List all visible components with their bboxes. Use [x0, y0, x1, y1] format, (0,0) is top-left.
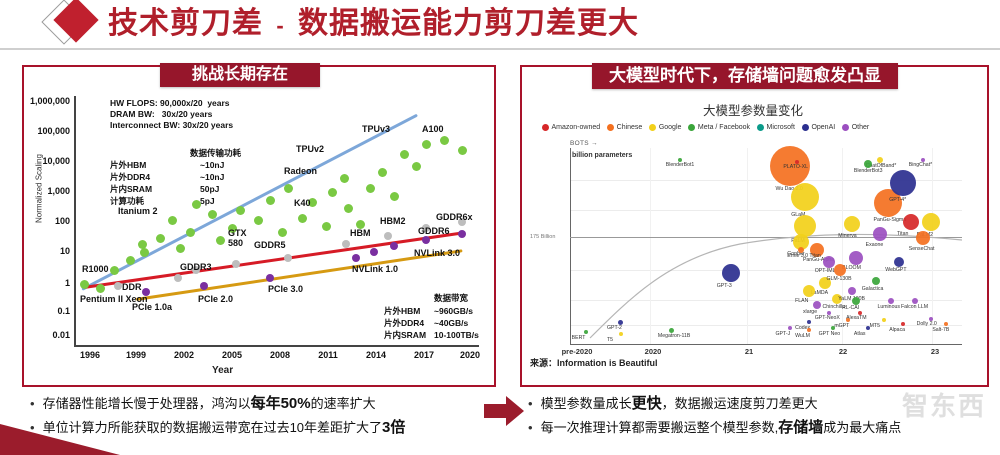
power-row-1-value: ~10nJ: [200, 172, 224, 183]
legend-item-microsoft: Microsoft: [757, 124, 795, 131]
bullet-text-pre: 模型参数量成长: [541, 396, 632, 411]
bullet-item: • 存储器性能增长慢于处理器，鸿沟以每年50%的速率扩大: [22, 392, 492, 416]
x-tick-6: 2014: [356, 350, 396, 360]
page-title-separator: -: [272, 13, 288, 38]
scissors-gap-chart: Normalized Scaling Year 1,000,000 100,00…: [22, 88, 492, 380]
legend-dot-icon: [842, 124, 849, 131]
data-point: [440, 136, 449, 145]
bw-row-0-value: ~960GB/s: [434, 306, 473, 317]
data-point: [422, 236, 430, 244]
page-title: 技术剪刀差 - 数据搬运能力剪刀差更大: [108, 2, 639, 48]
bubble-label: T5: [607, 337, 613, 343]
bubble-blenderbot3: [864, 160, 872, 168]
data-point: [352, 254, 360, 262]
y-tick-0: 1,000,000: [14, 96, 70, 106]
bubble-label: RL-CAI: [842, 305, 859, 311]
bubble-webgpt: [894, 257, 904, 267]
point-label-r1000: R1000: [82, 264, 109, 274]
legend-label: OpenAI: [811, 124, 835, 131]
legend-label: Meta / Facebook: [698, 124, 750, 131]
bubble-label: Ernie 3.0 Titan: [787, 253, 820, 259]
page-title-main: 技术剪刀差: [108, 7, 263, 40]
bullet-text-strong: 每年50%: [251, 395, 311, 412]
data-point: [266, 196, 275, 205]
power-row-2-value: 50pJ: [200, 184, 219, 195]
bullet-text-post: 的速率扩大: [311, 396, 376, 411]
point-label-hbm: HBM: [350, 228, 366, 238]
bullet-text: 每一次推理计算都需要搬运整个模型参数,存储墙成为最大痛点: [541, 416, 902, 440]
data-point: [344, 204, 353, 213]
bubble-bloom: [849, 251, 863, 265]
bubble-opt-iml: [823, 256, 835, 268]
bubble-sensechat: [916, 231, 930, 245]
bubble-dolly-2-0: [929, 317, 933, 321]
y-tick-6: 1: [14, 278, 70, 288]
left-panel-banner: 挑战长期存在: [160, 63, 320, 87]
data-point: [322, 222, 331, 231]
data-point: [266, 274, 274, 282]
bullet-text-strong: 更快: [632, 395, 662, 412]
bubble-label: GLM-130B: [826, 276, 851, 282]
bubble-x-tick-2: 21: [724, 347, 774, 356]
bubble-chart-legend: Amazon-owned Chinese Google Meta / Faceb…: [542, 124, 972, 131]
point-label-a100: A100: [422, 124, 444, 134]
gridline-175-billion-label: 175 Billion: [530, 234, 555, 240]
bubble-label: Exaone: [866, 242, 884, 248]
point-label-hbm2: HBM2: [380, 216, 406, 226]
bubble-label: FLAN: [795, 298, 808, 304]
legend-dot-icon: [542, 124, 549, 131]
page-title-bar: 技术剪刀差 - 数据搬运能力剪刀差更大: [0, 0, 1000, 52]
bubble-label: Alpaca: [889, 327, 905, 333]
y-tick-8: 0.01: [14, 330, 70, 340]
data-point: [232, 260, 240, 268]
legend-item-meta-facebook: Meta / Facebook: [688, 124, 750, 131]
point-label-tpuv3: TPUv3: [362, 124, 390, 134]
bullet-text: 存储器性能增长慢于处理器，鸿沟以每年50%的速率扩大: [43, 392, 376, 416]
point-label-gddr6: GDDR6: [418, 226, 450, 236]
title-divider: [0, 48, 1000, 50]
data-point: [340, 174, 349, 183]
bots-annotation: BOTS →: [570, 140, 598, 147]
y-axis: [74, 96, 76, 346]
bubble-label: Luminous: [877, 304, 900, 310]
data-point: [458, 146, 467, 155]
bubble-chatofband-: [877, 157, 883, 163]
bubble-label: BERT: [572, 335, 586, 341]
data-point: [168, 216, 177, 225]
bubble-alexatm: [858, 311, 862, 315]
bubble-xlarge: [813, 301, 821, 309]
right-arrow-icon: [484, 394, 524, 428]
legend-item-chinese: Chinese: [607, 124, 642, 131]
y-tick-7: 0.1: [14, 306, 70, 316]
bubble-label: GPT-4*: [889, 197, 906, 203]
bubble-label: mGPT: [834, 323, 849, 329]
bullet-text-strong: 存储墙: [778, 419, 823, 436]
data-point: [126, 256, 135, 265]
data-point: [236, 206, 245, 215]
point-label-pcie30: PCIe 3.0: [268, 284, 303, 294]
data-point: [156, 234, 165, 243]
point-label-nvlink30: NVLink 3.0: [414, 248, 460, 258]
point-label-ddr: DDR: [122, 282, 142, 292]
point-label-k40: K40: [294, 198, 311, 208]
scaling-note: HW FLOPS: 90,000x/20 years DRAM BW: 30x/…: [110, 98, 233, 131]
data-point: [174, 274, 182, 282]
data-point: [278, 228, 287, 237]
power-row-2-name: 片内SRAM: [110, 184, 152, 195]
bubble-label: SenseChat: [909, 246, 935, 252]
data-point: [412, 162, 421, 171]
bubble-label: GPT-NeoX: [815, 315, 840, 321]
bubble-rl-cai: [852, 297, 860, 305]
point-label-itanium2: Itanium 2: [118, 206, 158, 216]
legend-label: Microsoft: [767, 124, 795, 131]
point-label-nvlink10: NVLink 1.0: [352, 264, 398, 274]
bubble-gpt-neo: [831, 326, 835, 330]
bubble-bingchat-: [921, 158, 925, 162]
bullet-text-post: ，数据搬运速度剪刀差更大: [662, 396, 818, 411]
point-label-radeon: Radeon: [284, 166, 317, 176]
y-tick-1: 100,000: [14, 126, 70, 136]
data-point: [370, 248, 378, 256]
right-panel-banner: 大模型时代下，存储墙问题愈发凸显: [592, 63, 898, 89]
bw-note-header: 数据带宽: [434, 293, 468, 304]
bubble-label: BingChat*: [909, 162, 932, 168]
data-point: [140, 248, 149, 257]
x-axis-label: Year: [212, 365, 233, 376]
power-row-0-name: 片外HBM: [110, 160, 146, 171]
point-label-gddr3: GDDR3: [180, 262, 212, 272]
watermark: 智东西: [902, 386, 986, 423]
corner-decoration: [0, 424, 120, 455]
data-point: [208, 210, 217, 219]
bw-row-1-value: ~40GB/s: [434, 318, 468, 329]
bubble-label: OPT-IML: [815, 268, 836, 274]
bubble-label: Minerva: [838, 233, 856, 239]
data-point: [400, 150, 409, 159]
bubble-label: GPT Neo: [819, 331, 841, 337]
bubble-chart-title: 大模型参数量变化: [528, 100, 978, 119]
data-point: [176, 244, 185, 253]
data-point: [254, 216, 263, 225]
data-point: [284, 184, 293, 193]
legend-label: Google: [659, 124, 682, 131]
bubble-falcon-llm: [912, 298, 918, 304]
bubble-gpt-neox: [827, 311, 831, 315]
bubble-gpt-j: [788, 326, 792, 330]
data-point: [328, 188, 337, 197]
bubble-label: MT5: [870, 323, 880, 329]
page-title-sub: 数据搬运能力剪刀差更大: [298, 7, 639, 40]
data-point: [114, 282, 122, 290]
data-point: [390, 242, 398, 250]
bubble-label: Galactica: [862, 286, 884, 292]
power-row-1-name: 片外DDR4: [110, 172, 150, 183]
data-point: [186, 228, 195, 237]
bullet-marker: •: [22, 392, 35, 416]
bw-row-2-value: 10-100TB/s: [434, 330, 479, 341]
data-point: [422, 140, 431, 149]
bubble-exaone: [873, 227, 887, 241]
y-tick-2: 10,000: [14, 156, 70, 166]
point-label-tpuv2: TPUv2: [296, 144, 326, 154]
legend-label: Amazon-owned: [552, 124, 601, 131]
bubble-label: GPT-J: [776, 331, 791, 337]
data-point: [390, 192, 399, 201]
bubble-glam: [791, 183, 819, 211]
y-tick-3: 1,000: [14, 186, 70, 196]
bw-row-0-name: 片外HBM: [384, 306, 420, 317]
legend-item-other: Other: [842, 124, 869, 131]
data-point: [192, 200, 201, 209]
bullet-text-pre: 存储器性能增长慢于处理器，鸿沟以: [43, 396, 251, 411]
x-tick-0: 1996: [70, 350, 110, 360]
chart-source: 来源：Information is Beautiful: [530, 356, 658, 369]
legend-label: Other: [852, 124, 870, 131]
legend-item-amazon-owned: Amazon-owned: [542, 124, 600, 131]
bullet-text-post: 成为最大痛点: [823, 420, 901, 435]
bubble-label: GPT-2: [607, 325, 622, 331]
data-point: [378, 168, 387, 177]
bubble-plot-area: BOTS → billion parameters 175 Billion pr…: [542, 140, 968, 352]
bubble-blenderbot1: [678, 158, 682, 162]
data-point: [80, 280, 89, 289]
bubble-label: Atlas: [854, 331, 866, 337]
bubble-label: Megatron-11B: [658, 333, 691, 339]
power-row-3-value: 5pJ: [200, 196, 215, 207]
bubble-label: WuLM: [795, 333, 810, 339]
model-params-bubble-chart: ◎ 大模型参数量变化 Amazon-owned Chinese Google M…: [528, 92, 978, 380]
data-point: [342, 240, 350, 248]
legend-item-google: Google: [649, 124, 681, 131]
point-label-pcie20: PCIe 2.0: [198, 294, 233, 304]
bullet-text-strong: 3倍: [382, 419, 405, 436]
bullet-text: 模型参数量成长更快，数据搬运速度剪刀差更大: [541, 392, 818, 416]
bw-row-2-name: 片内SRAM: [384, 330, 426, 341]
x-tick-5: 2011: [308, 350, 348, 360]
data-point: [200, 282, 208, 290]
x-tick-8: 2020: [450, 350, 490, 360]
point-label-gddr5: GDDR5: [254, 240, 286, 250]
legend-dot-icon: [688, 124, 695, 131]
legend-dot-icon: [802, 124, 809, 131]
x-tick-1: 1999: [116, 350, 156, 360]
bubble-label: Falcon LLM: [901, 304, 928, 310]
bubble-x-tick-4: 23: [910, 347, 960, 356]
x-tick-3: 2005: [212, 350, 252, 360]
legend-dot-icon: [649, 124, 656, 131]
bubble-label: Salt-7B: [932, 327, 949, 333]
data-point: [96, 284, 105, 293]
bubble-galactica: [872, 277, 880, 285]
data-point: [384, 232, 392, 240]
data-point: [366, 184, 375, 193]
data-point: [298, 214, 307, 223]
bullet-text-pre: 每一次推理计算都需要搬运整个模型参数,: [541, 420, 779, 435]
x-axis: [74, 345, 479, 347]
legend-label: Chinese: [617, 124, 643, 131]
bw-row-1-name: 片外DDR4: [384, 318, 424, 329]
bubble-label: BlenderBot3: [854, 168, 883, 174]
bubble-glm-130b: [834, 264, 846, 276]
bubble-label: PanGu-Sigma: [874, 217, 907, 223]
x-tick-4: 2008: [260, 350, 300, 360]
point-label-gddr6x: GDDR6x: [436, 212, 473, 222]
x-tick-2: 2002: [164, 350, 204, 360]
bubble-label: GPT-3: [717, 283, 732, 289]
legend-dot-icon: [757, 124, 764, 131]
bubble-x-tick-3: 22: [818, 347, 868, 356]
legend-item-openai: OpenAI: [802, 124, 835, 131]
bubble-palm2: [922, 213, 940, 231]
bubble-x-tick-1: 2020: [628, 347, 678, 356]
y-tick-4: 100: [14, 216, 70, 226]
point-label-pcie10a: PCIe 1.0a: [132, 302, 172, 312]
x-tick-7: 2017: [404, 350, 444, 360]
data-point: [284, 254, 292, 262]
data-point: [110, 266, 119, 275]
bubble-label: Titan: [897, 231, 908, 237]
bubble-label: WebGPT: [885, 267, 906, 273]
power-row-0-value: ~10nJ: [200, 160, 224, 171]
bubble-label: PLATO-XL: [783, 164, 808, 170]
bubble-label: BlenderBot1: [666, 162, 695, 168]
data-point: [216, 236, 225, 245]
legend-dot-icon: [607, 124, 614, 131]
bubble-x-tick-0: pre-2020: [552, 347, 602, 356]
data-point: [458, 230, 466, 238]
bubble-x-axis: [570, 344, 962, 345]
power-note-header: 数据传输功耗: [190, 148, 241, 159]
bubble-bert: [584, 330, 588, 334]
y-tick-5: 10: [14, 246, 70, 256]
